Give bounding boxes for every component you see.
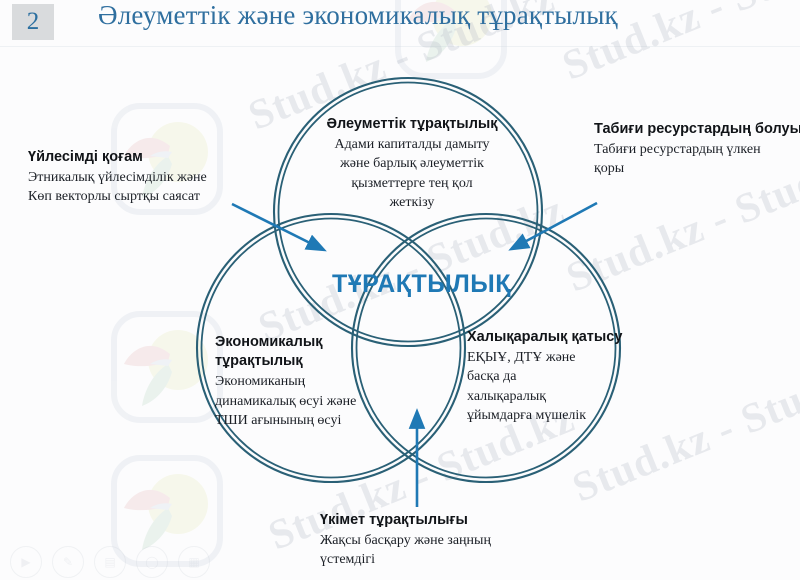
- block-government: Үкімет тұрақтылығы Жақсы басқару және за…: [320, 511, 610, 570]
- slide-header: 2 Әлеуметтік және экономикалық тұрақтылы…: [0, 0, 800, 46]
- natural-heading: Табиғи ресурстардың болуы: [594, 120, 800, 139]
- social-heading: Әлеуметтік тұрақтылық: [312, 115, 512, 134]
- international-body: ЕҚЫҰ, ДТҰ және басқа да халықаралық ұйым…: [467, 348, 642, 425]
- slide-number-badge: 2: [12, 4, 54, 40]
- slide-canvas: Stud.kz - Stud.kz Stud.kz - Stud.kz Stud…: [0, 0, 800, 580]
- harmony-body: Этникалық үйлесімділік және Көп векторлы…: [28, 168, 278, 207]
- social-body: Адами капиталды дамыту және барлық әлеум…: [312, 135, 512, 212]
- harmony-heading: Үйлесімді қоғам: [28, 148, 278, 167]
- venn-center-label: ТҰРАҚТЫЛЫҚ: [332, 270, 511, 299]
- block-natural-resources: Табиғи ресурстардың болуы Табиғи ресурст…: [594, 120, 800, 179]
- international-heading: Халықаралық қатысу: [467, 328, 642, 347]
- government-body: Жақсы басқару және заңның үстемдігі: [320, 531, 610, 570]
- block-international: Халықаралық қатысу ЕҚЫҰ, ДТҰ және басқа …: [467, 328, 642, 425]
- natural-body: Табиғи ресурстардың үлкен қоры: [594, 140, 800, 179]
- block-economic: Экономикалық тұрақтылық Экономиканың дин…: [215, 333, 400, 430]
- government-heading: Үкімет тұрақтылығы: [320, 511, 610, 530]
- block-social: Әлеуметтік тұрақтылық Адами капиталды да…: [312, 115, 512, 212]
- block-harmony: Үйлесімді қоғам Этникалық үйлесімділік ж…: [28, 148, 278, 207]
- economic-heading: Экономикалық тұрақтылық: [215, 333, 400, 371]
- economic-body: Экономиканың динамикалық өсуі және ТШИ а…: [215, 372, 400, 430]
- page-title: Әлеуметтік және экономикалық тұрақтылық: [98, 0, 618, 31]
